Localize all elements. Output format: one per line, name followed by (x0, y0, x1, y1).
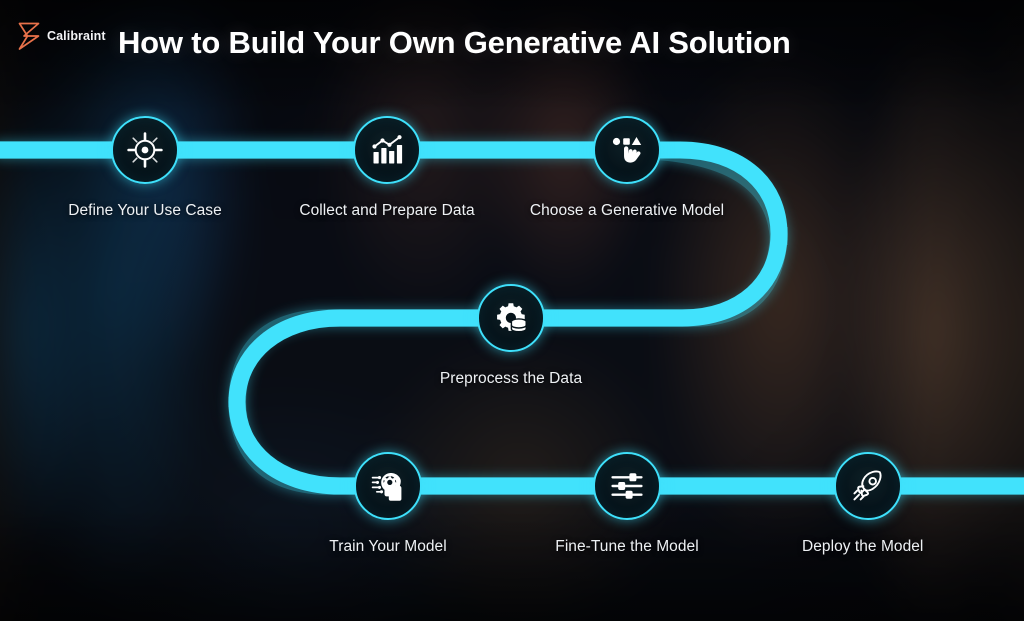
hand-select-shapes-icon (609, 132, 645, 168)
ai-head-gear-icon (370, 468, 406, 504)
step-node-4[interactable] (477, 284, 545, 352)
step-caption-1: Define Your Use Case (45, 200, 245, 222)
sliders-tune-icon (609, 468, 645, 504)
step-caption-2: Collect and Prepare Data (287, 200, 487, 222)
crosshair-target-icon (127, 132, 163, 168)
circuit-lines (373, 478, 381, 492)
gear-database-icon (493, 300, 529, 336)
step-caption-5: Train Your Model (288, 536, 488, 558)
rocket-launch-icon (850, 468, 886, 504)
slider-handle-3 (626, 491, 633, 499)
slider-handle-2 (618, 482, 625, 490)
infographic-canvas: Calibraint How to Build Your Own Generat… (0, 0, 1024, 621)
step-node-7[interactable] (834, 452, 902, 520)
step-caption-7: Deploy the Model (802, 536, 1002, 558)
step-node-1[interactable] (111, 116, 179, 184)
step-node-3[interactable] (593, 116, 661, 184)
step-caption-4: Preprocess the Data (411, 368, 611, 390)
step-node-2[interactable] (353, 116, 421, 184)
step-caption-6: Fine-Tune the Model (527, 536, 727, 558)
bar-chart-trend-icon (369, 132, 405, 168)
step-node-6[interactable] (593, 452, 661, 520)
slider-handle-1 (629, 473, 636, 481)
step-caption-3: Choose a Generative Model (527, 200, 727, 222)
database-cylinder (511, 319, 526, 332)
step-node-5[interactable] (354, 452, 422, 520)
